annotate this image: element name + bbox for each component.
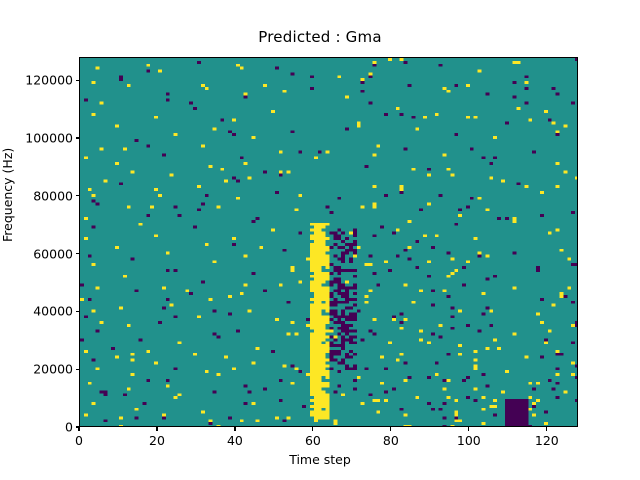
x-tick-label: 0: [49, 433, 109, 448]
x-tick-mark: [156, 427, 157, 431]
x-tick-mark: [546, 427, 547, 431]
x-tick-label: 60: [283, 433, 343, 448]
y-tick-label: 60000: [5, 246, 73, 261]
x-tick-label: 20: [127, 433, 187, 448]
y-tick-label: 120000: [5, 73, 73, 88]
y-tick-label: 0: [5, 420, 73, 435]
x-tick-label: 100: [439, 433, 499, 448]
x-tick-label: 80: [361, 433, 421, 448]
x-tick-label: 120: [517, 433, 577, 448]
matplotlib-figure: Predicted : Gma 020000400006000080000100…: [0, 0, 640, 480]
y-axis-label: Frequency (Hz): [0, 148, 15, 242]
x-tick-mark: [312, 427, 313, 431]
x-tick-mark: [390, 427, 391, 431]
page-title: Predicted : Gma: [0, 28, 640, 46]
y-tick-label: 40000: [5, 304, 73, 319]
y-tick-label: 100000: [5, 130, 73, 145]
heatmap-image: [80, 58, 578, 427]
y-tick-label: 20000: [5, 362, 73, 377]
heatmap-axes[interactable]: [79, 57, 578, 427]
y-tick-label: 80000: [5, 188, 73, 203]
x-tick-mark: [234, 427, 235, 431]
x-axis-label: Time step: [0, 452, 640, 467]
x-tick-label: 40: [205, 433, 265, 448]
x-tick-mark: [78, 427, 79, 431]
x-tick-mark: [468, 427, 469, 431]
